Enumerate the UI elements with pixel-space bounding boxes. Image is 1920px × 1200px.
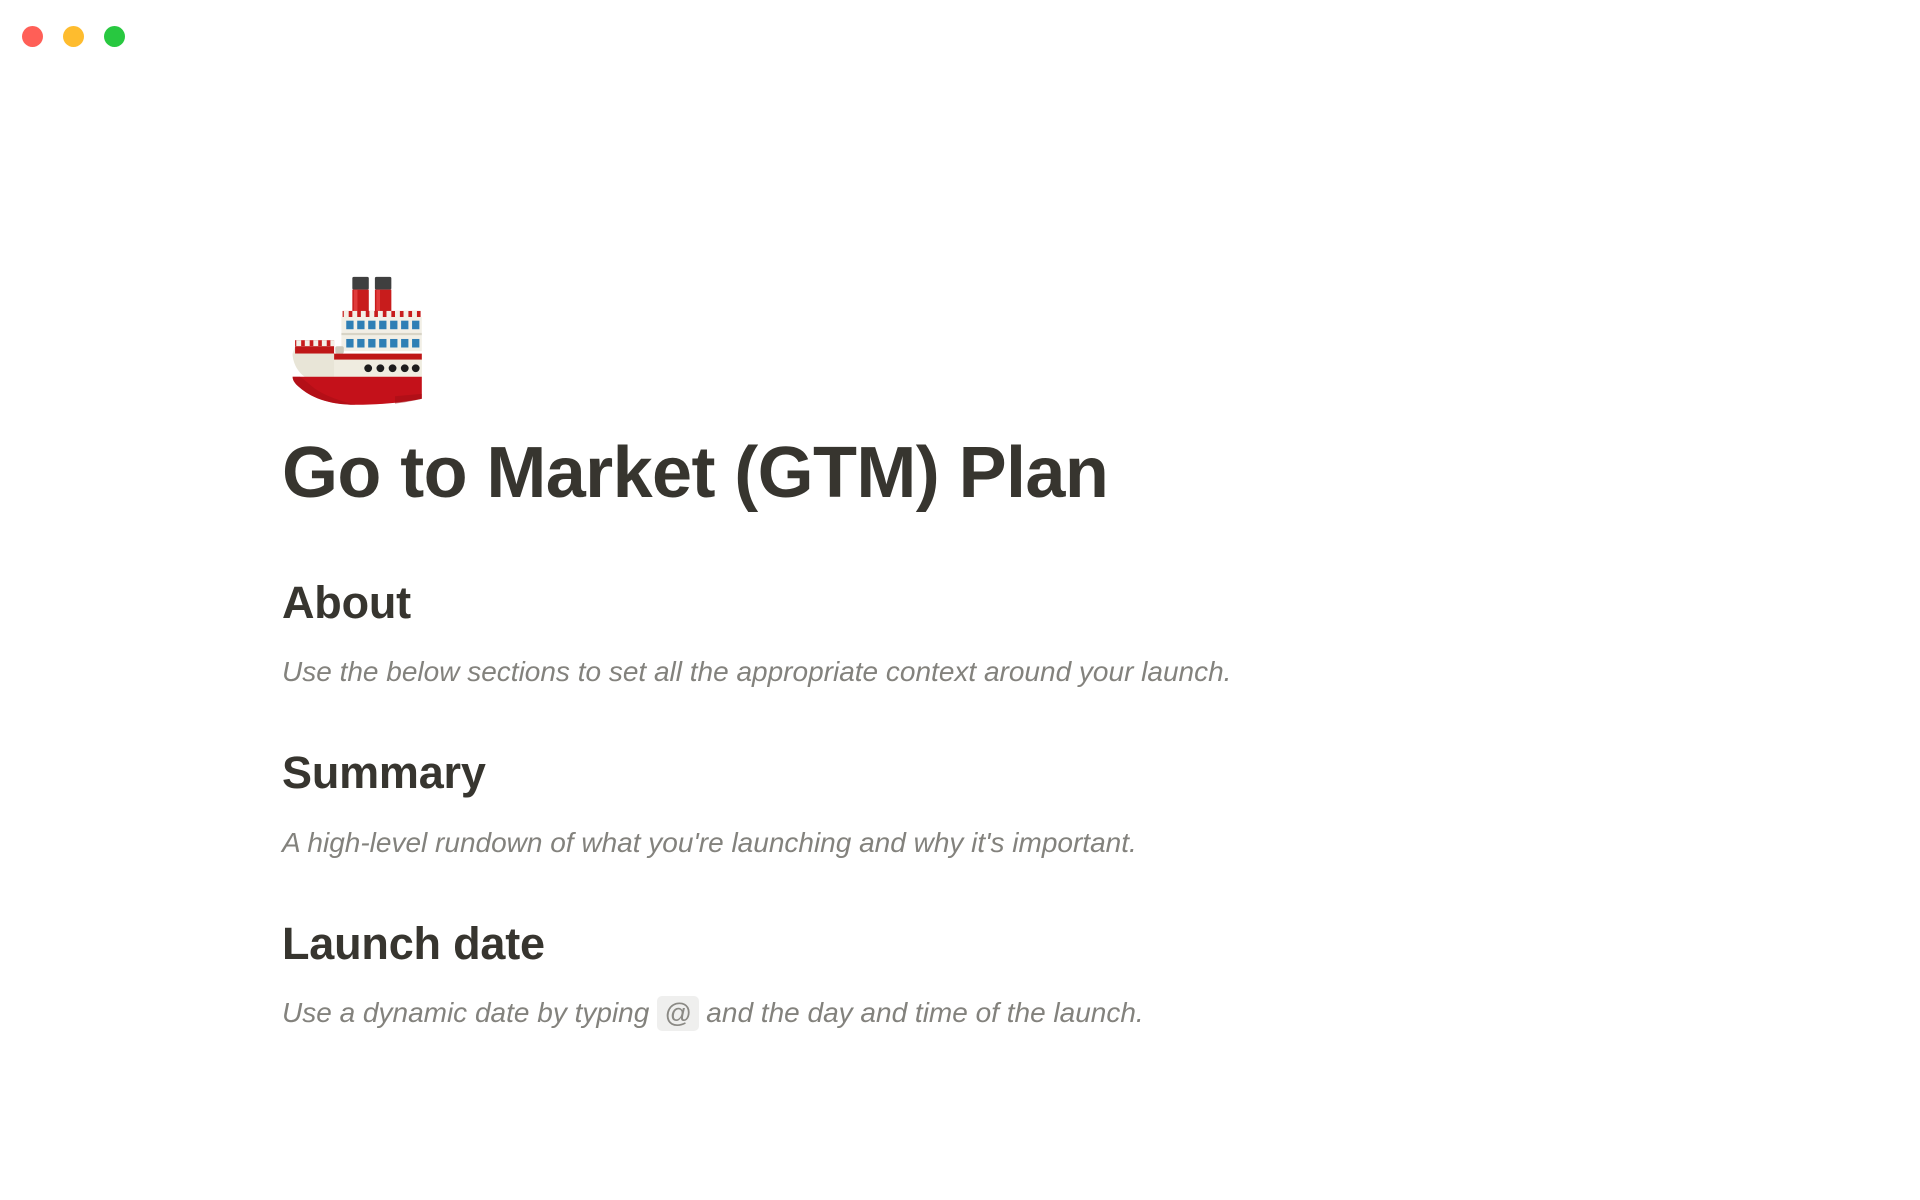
document-page: Go to Market (GTM) Plan About Use the be… xyxy=(0,0,1920,1034)
section-launch-date: Launch date Use a dynamic date by typing… xyxy=(282,916,1920,1034)
text-launch-date[interactable]: Use a dynamic date by typing @ and the d… xyxy=(282,992,1920,1034)
text-launch-date-before: Use a dynamic date by typing xyxy=(282,997,657,1028)
spacer xyxy=(282,864,1920,916)
text-about[interactable]: Use the below sections to set all the ap… xyxy=(282,651,1920,693)
heading-about[interactable]: About xyxy=(282,575,1920,631)
page-title[interactable]: Go to Market (GTM) Plan xyxy=(282,434,1920,513)
spacer xyxy=(282,972,1920,992)
inline-code-at-mention[interactable]: @ xyxy=(657,996,698,1031)
spacer xyxy=(282,693,1920,745)
spacer xyxy=(282,802,1920,822)
text-summary-content: A high-level rundown of what you're laun… xyxy=(282,827,1137,858)
heading-launch-date[interactable]: Launch date xyxy=(282,916,1920,972)
spacer xyxy=(282,513,1920,575)
ship-icon[interactable] xyxy=(278,250,434,406)
spacer xyxy=(282,631,1920,651)
text-summary[interactable]: A high-level rundown of what you're laun… xyxy=(282,822,1920,864)
app-window: Go to Market (GTM) Plan About Use the be… xyxy=(0,0,1920,1200)
section-summary: Summary A high-level rundown of what you… xyxy=(282,745,1920,863)
section-about: About Use the below sections to set all … xyxy=(282,575,1920,693)
text-launch-date-after: and the day and time of the launch. xyxy=(699,997,1144,1028)
heading-summary[interactable]: Summary xyxy=(282,745,1920,801)
text-about-content: Use the below sections to set all the ap… xyxy=(282,656,1231,687)
